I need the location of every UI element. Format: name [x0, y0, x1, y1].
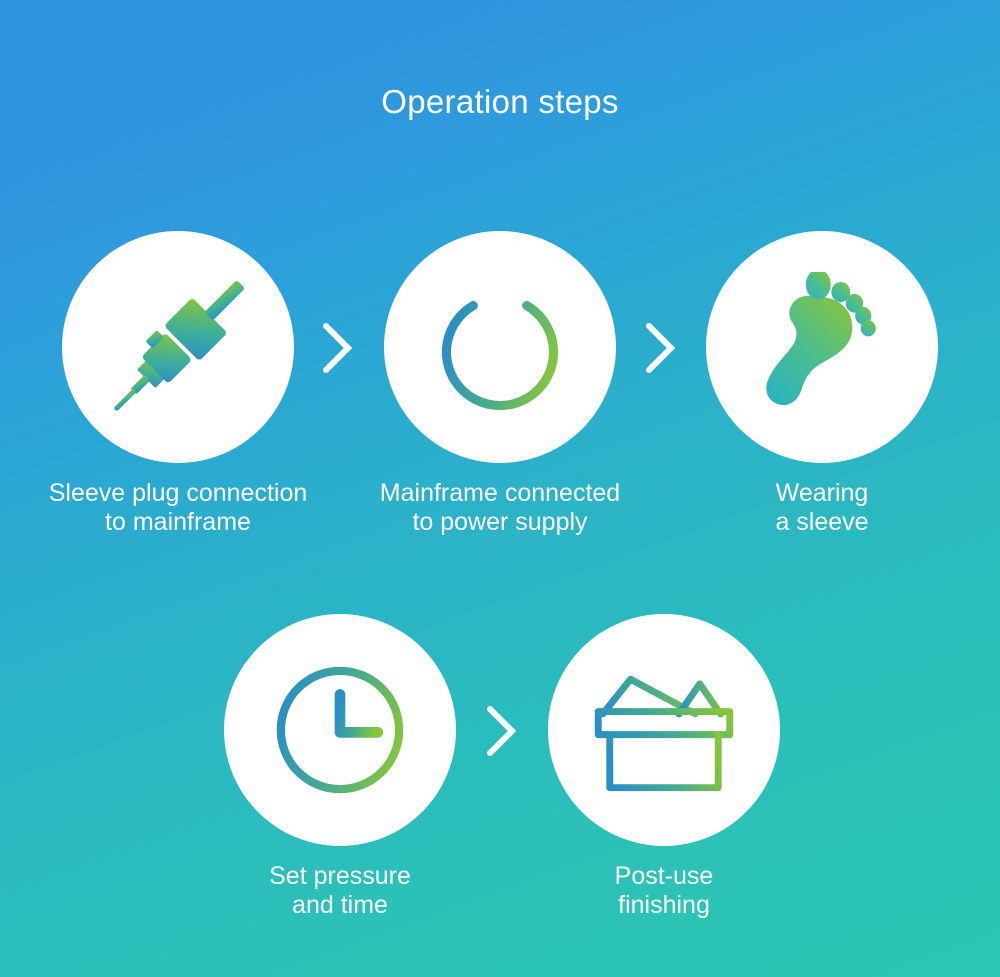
step-4-circle[interactable]: [224, 614, 456, 846]
operation-steps-infographic: Operation steps: [0, 0, 1000, 977]
step-2[interactable]: Mainframe connected to power supply: [384, 231, 616, 537]
power-icon: [427, 274, 573, 420]
step-5-label: Post-use finishing: [539, 862, 789, 920]
chevron-right-icon-3: [484, 703, 518, 759]
clock-icon: [269, 659, 411, 801]
storage-box-icon: [589, 660, 739, 800]
step-3[interactable]: Wearing a sleeve: [706, 231, 938, 537]
step-2-circle[interactable]: [384, 231, 616, 463]
step-4-label: Set pressure and time: [215, 862, 465, 920]
step-2-label: Mainframe connected to power supply: [355, 479, 645, 537]
step-3-circle[interactable]: [706, 231, 938, 463]
step-3-label: Wearing a sleeve: [702, 479, 942, 537]
plug-connector-icon: [103, 272, 253, 422]
chevron-right-icon-2: [643, 320, 677, 376]
chevron-right-icon-1: [320, 320, 354, 376]
step-4[interactable]: Set pressure and time: [224, 614, 456, 920]
step-1-label: Sleeve plug connection to mainframe: [33, 479, 323, 537]
step-1[interactable]: Sleeve plug connection to mainframe: [62, 231, 294, 537]
step-5[interactable]: Post-use finishing: [548, 614, 780, 920]
step-1-circle[interactable]: [62, 231, 294, 463]
step-5-circle[interactable]: [548, 614, 780, 846]
footprint-icon: [757, 272, 887, 422]
page-title: Operation steps: [0, 82, 1000, 122]
